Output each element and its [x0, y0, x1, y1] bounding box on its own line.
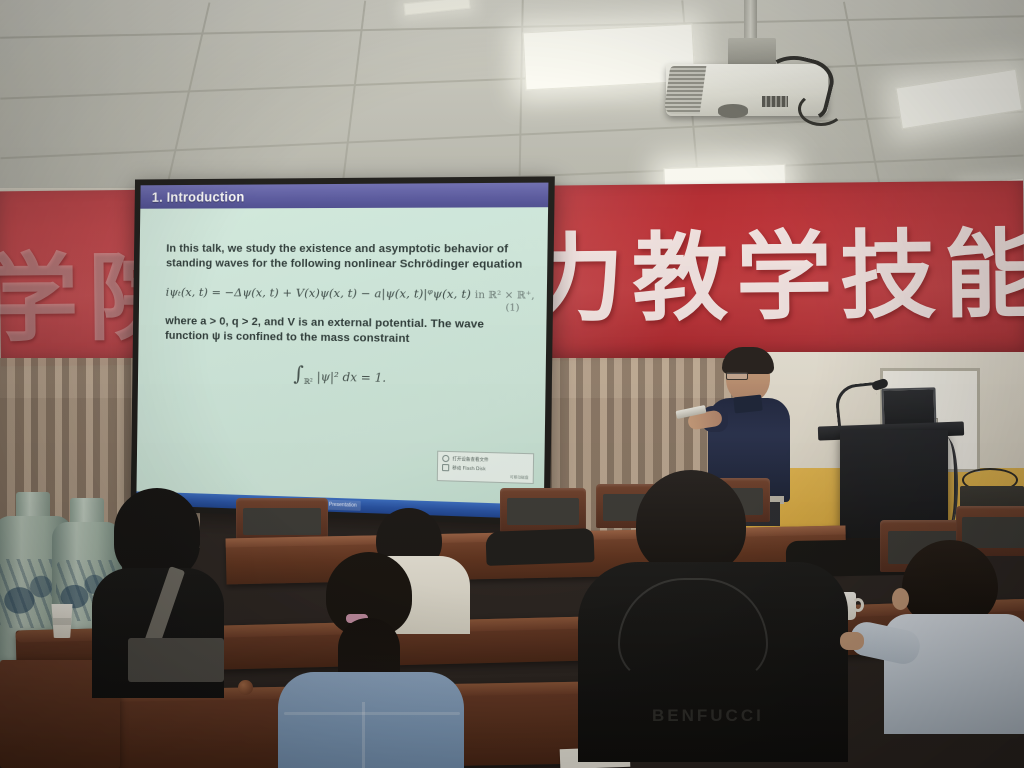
- usb-drive-icon: [442, 464, 449, 471]
- shoulder-bag: [128, 638, 224, 682]
- chair: [236, 498, 328, 542]
- banner-right-text: 力教学技能比赛: [527, 194, 1024, 341]
- audience-black-hoodie: BENFUCCI: [578, 470, 850, 768]
- ceiling: [0, 0, 1024, 195]
- projection-screen-frame: 1. Introduction In this talk, we study t…: [131, 176, 555, 525]
- bench-knob: [238, 680, 253, 695]
- toast-subtext: 可移动磁盘: [442, 473, 529, 481]
- integral-domain: ℝ²: [304, 377, 313, 386]
- hoodie-back-text: BENFUCCI: [652, 706, 764, 726]
- projector-cable: [798, 92, 844, 126]
- audience-head: [636, 470, 746, 574]
- audience-hand: [840, 632, 864, 650]
- folder-icon: [442, 455, 449, 462]
- chair: [500, 488, 586, 532]
- toast-row: 打开设备查看文件: [442, 455, 529, 465]
- lecture-hall-scene: 学院 力教学技能比赛 1. Introduction In this talk,…: [0, 0, 1024, 768]
- audience-head: [114, 488, 200, 580]
- equation-domain: in ℝ² × ℝ⁺,: [475, 290, 535, 302]
- projector-mount-bracket: [728, 38, 776, 66]
- jacket-yoke-seam: [284, 712, 460, 715]
- slide-mass-constraint: ∫ℝ² |ψ|² dx = 1.: [164, 359, 522, 390]
- audience-light-shirt: [884, 540, 1024, 768]
- slide-title: 1. Introduction: [140, 189, 244, 204]
- toast-line-1: 打开设备查看文件: [452, 456, 488, 463]
- slide-equation-row: iψₜ(x, t) = −Δψ(x, t) + V(x)ψ(x, t) − a|…: [166, 285, 524, 302]
- usb-notification-popup[interactable]: 打开设备查看文件 移动 Flash Disk 可移动磁盘: [437, 451, 534, 484]
- projector-mount-pole: [744, 0, 757, 40]
- audience-denim-jacket: [278, 552, 468, 768]
- paper-cup: [50, 604, 74, 638]
- slide-equation: iψₜ(x, t) = −Δψ(x, t) + V(x)ψ(x, t) − a|…: [166, 285, 524, 302]
- hood-outline: [618, 578, 768, 682]
- jacket-center-seam: [362, 702, 365, 768]
- vase-neck: [16, 492, 50, 518]
- equation-number: (1): [505, 302, 519, 313]
- chair-back-pad: [243, 508, 320, 535]
- mug-handle: [852, 598, 864, 612]
- projected-slide[interactable]: 1. Introduction In this talk, we study t…: [136, 183, 548, 520]
- toast-row: 移动 Flash Disk: [442, 464, 529, 474]
- presenter-hair: [722, 347, 774, 374]
- audience-woman-black: [92, 488, 232, 708]
- slide-paragraph-2: where a > 0, q > 2, and V is an external…: [165, 314, 524, 348]
- toast-line-2: 移动 Flash Disk: [452, 465, 485, 472]
- chair-back-pad: [507, 498, 579, 525]
- ear: [892, 588, 909, 610]
- shirt-collar: [733, 395, 763, 414]
- integral-sign: ∫: [293, 361, 304, 385]
- slide-paragraph-1: In this talk, we study the existence and…: [166, 242, 525, 273]
- slide-header-bar: 1. Introduction: [140, 183, 548, 209]
- projector-lens: [718, 104, 748, 118]
- denim-jacket: [278, 672, 464, 768]
- equation-text: iψₜ(x, t) = −Δψ(x, t) + V(x)ψ(x, t) − a|…: [166, 285, 471, 301]
- integral-body: |ψ|² dx = 1.: [317, 370, 387, 385]
- projector-vent: [664, 66, 707, 114]
- ceiling-tile-grid: [0, 0, 1024, 195]
- eyeglasses: [726, 372, 748, 380]
- cup-band: [53, 618, 71, 625]
